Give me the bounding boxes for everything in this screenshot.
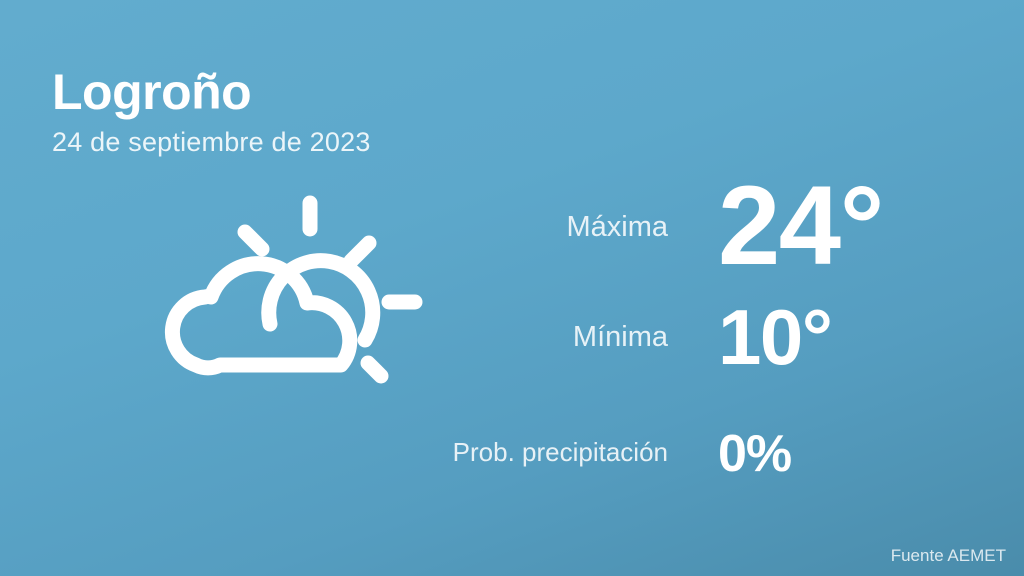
partly-cloudy-day-icon (140, 185, 440, 420)
max-temperature-value: 24° (668, 170, 950, 282)
min-temperature-value: 10° (668, 298, 950, 376)
source-attribution: Fuente AEMET (891, 546, 1006, 566)
precipitation-label: Prob. precipitación (430, 437, 668, 468)
precipitation-value: 0% (668, 428, 950, 480)
readings-list: Máxima 24° Mínima 10° Prob. precipitació… (430, 170, 950, 498)
weather-forecast-card: Logroño 24 de septiembre de 2023 Máxima … (0, 0, 1024, 576)
city-name: Logroño (52, 66, 371, 119)
cloud-icon (172, 264, 349, 368)
min-temperature-row: Mínima 10° (430, 298, 950, 428)
min-temperature-label: Mínima (430, 321, 668, 354)
header: Logroño 24 de septiembre de 2023 (52, 66, 371, 158)
forecast-date: 24 de septiembre de 2023 (52, 127, 371, 158)
max-temperature-label: Máxima (430, 211, 668, 244)
max-temperature-row: Máxima 24° (430, 170, 950, 298)
precipitation-row: Prob. precipitación 0% (430, 428, 950, 498)
